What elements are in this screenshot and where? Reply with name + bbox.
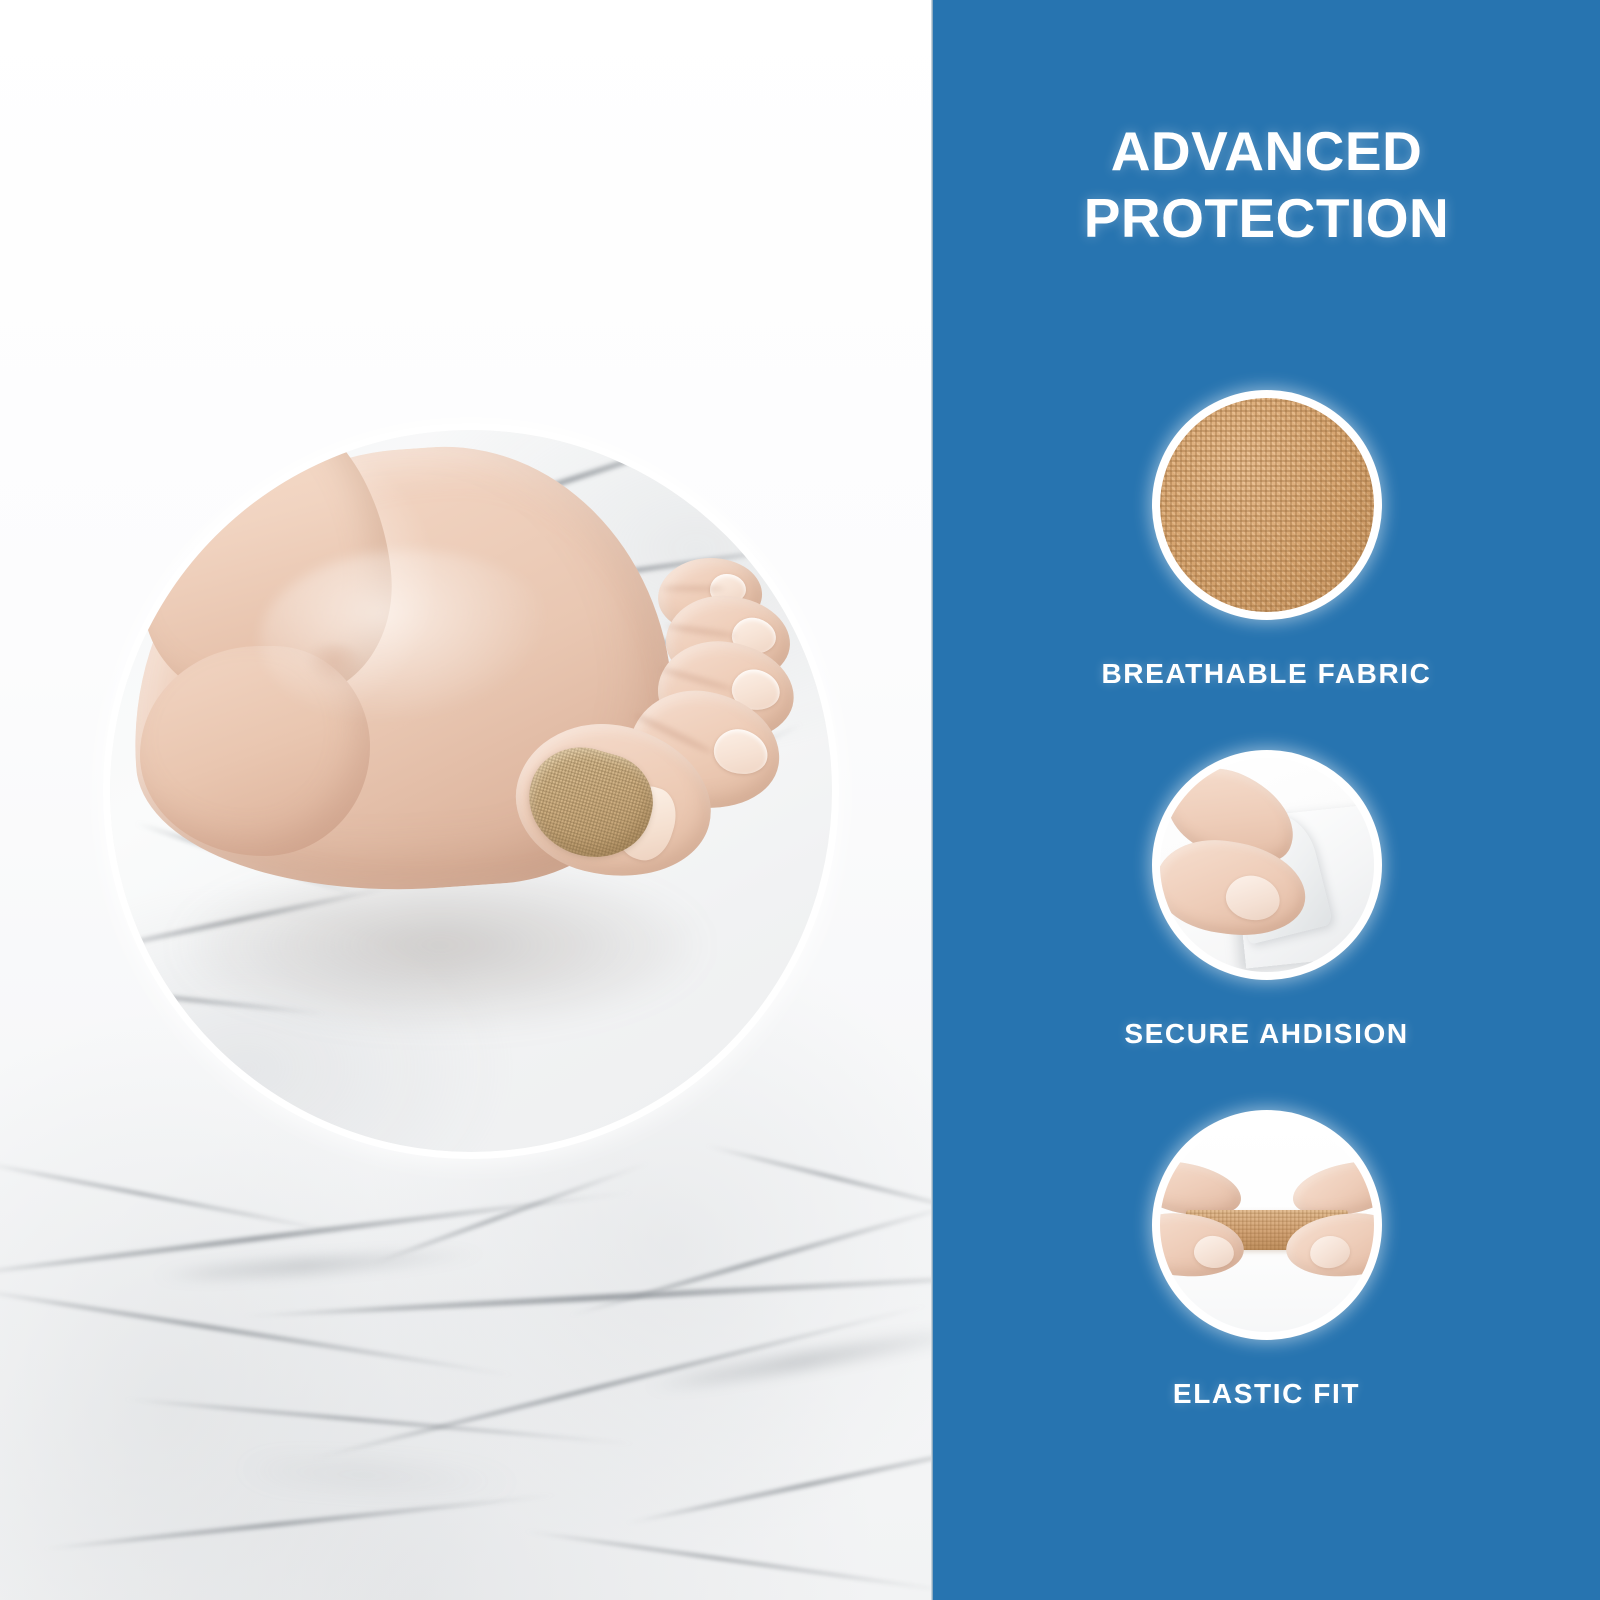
feature-label: ELASTIC FIT bbox=[933, 1378, 1600, 1410]
marble-vein bbox=[0, 1286, 517, 1378]
marble-vein bbox=[121, 1397, 639, 1445]
marble-vein bbox=[240, 1271, 933, 1320]
feature-icon-frame bbox=[1152, 750, 1382, 980]
feature-label: SECURE AHDISION bbox=[933, 1018, 1600, 1050]
feature-item-breathable-fabric: BREATHABLE FABRIC bbox=[933, 390, 1600, 750]
marble-vein bbox=[0, 1160, 347, 1235]
infographic-canvas: ADVANCED PROTECTION BREATHABLE FABRIC bbox=[0, 0, 1600, 1600]
headline-line-1: ADVANCED bbox=[933, 118, 1600, 185]
features-panel: ADVANCED PROTECTION BREATHABLE FABRIC bbox=[933, 0, 1600, 1600]
feature-label: BREATHABLE FABRIC bbox=[933, 658, 1600, 690]
feature-list: BREATHABLE FABRIC SECURE AHDISION bbox=[933, 390, 1600, 1470]
feature-icon-frame bbox=[1152, 1110, 1382, 1340]
hero-photo-panel bbox=[0, 0, 933, 1600]
toe-crease bbox=[662, 586, 724, 591]
page-title: ADVANCED PROTECTION bbox=[933, 118, 1600, 252]
marble-vein-soft bbox=[150, 1246, 490, 1284]
fabric-texture bbox=[1160, 398, 1374, 612]
marble-vein-soft bbox=[230, 1462, 530, 1490]
woven-fabric-swatch-icon bbox=[1160, 398, 1374, 612]
marble-vein bbox=[309, 1303, 931, 1462]
marble-vein bbox=[568, 1198, 933, 1318]
marble-vein bbox=[624, 1434, 933, 1525]
marble-vein bbox=[41, 1493, 559, 1551]
foot-illustration bbox=[110, 430, 832, 1152]
feature-item-secure-adhesion: SECURE AHDISION bbox=[933, 750, 1600, 1110]
ankle-bone-shading bbox=[306, 644, 362, 684]
marble-vein-soft bbox=[641, 1319, 933, 1397]
marble-vein bbox=[522, 1529, 933, 1593]
stretching-strip-icon bbox=[1160, 1118, 1374, 1332]
marble-vein bbox=[704, 1144, 933, 1219]
instep-highlight bbox=[260, 550, 560, 730]
hero-circle-frame bbox=[110, 430, 832, 1152]
hero-photo bbox=[110, 430, 832, 1152]
feature-icon-frame bbox=[1152, 390, 1382, 620]
headline-line-2: PROTECTION bbox=[933, 185, 1600, 252]
peeling-backing-icon bbox=[1160, 758, 1374, 972]
marble-vein bbox=[369, 1161, 652, 1266]
feature-item-elastic-fit: ELASTIC FIT bbox=[933, 1110, 1600, 1470]
